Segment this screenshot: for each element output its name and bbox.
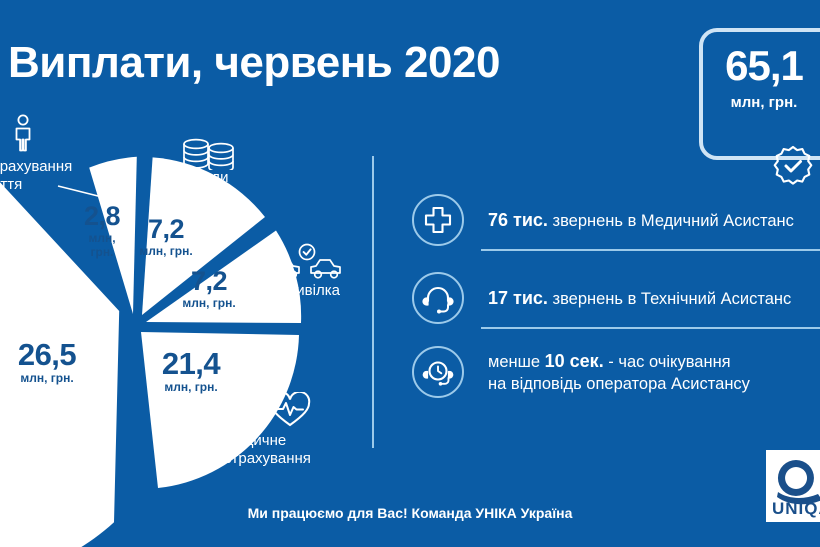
headset-icon: [410, 270, 466, 326]
heart-pulse-icon: [268, 392, 312, 430]
pie-label-life-line2: життя: [0, 176, 72, 194]
stat-value-wait: 10 сек.: [545, 351, 604, 371]
stat-text-wait-time: менше 10 сек. - час очікування на відпов…: [488, 349, 750, 396]
stat-text-medical-assistance: 76 тис. звернень в Медичний Асистанс: [488, 208, 794, 232]
car-icon: [0, 404, 36, 436]
stat-desc-medical: звернень в Медичний Асистанс: [548, 212, 794, 230]
medical-cross-icon: [410, 192, 466, 248]
coins-icon: [182, 138, 236, 170]
headset-clock-icon: [410, 344, 466, 400]
stat-item-medical-assistance: 76 тис. звернень в Медичний Асистанс: [410, 192, 794, 248]
stat-text-technical-assistance: 17 тис. звернень в Технічний Асистанс: [488, 286, 791, 310]
uniqa-wordmark: UNIQA: [772, 499, 820, 518]
pie-label-kasko: КАСКО: [0, 448, 35, 466]
stat-separator-1: [481, 249, 820, 251]
two-cars-check-icon: [268, 243, 346, 283]
stat-item-technical-assistance: 17 тис. звернень в Технічний Асистанс: [410, 270, 791, 326]
stat-wait-prefix: менше: [488, 353, 545, 371]
pie-label-medical-line2: страхування: [224, 450, 311, 468]
pie-label-other: Інші види: [163, 169, 228, 187]
panel-divider: [372, 156, 374, 448]
footer-text: Ми працюємо для Вас! Команда УНІКА Украї…: [0, 505, 820, 521]
stat-wait-suffix: - час очікування: [604, 353, 731, 371]
stat-wait-line2: на відповідь оператора Асистансу: [488, 373, 750, 395]
stat-separator-2: [481, 327, 820, 329]
pie-label-medical: Медичне страхування: [224, 432, 311, 467]
uniqa-logo-mark: UNIQA: [766, 450, 820, 522]
stat-wait-line1: менше 10 сек. - час очікування: [488, 349, 750, 373]
person-icon: [9, 114, 37, 152]
pie-label-life-line1: Страхування: [0, 158, 72, 176]
stat-item-wait-time: менше 10 сек. - час очікування на відпов…: [410, 344, 750, 400]
stat-desc-technical: звернень в Технічний Асистанс: [548, 290, 791, 308]
pie-label-life: Страхування життя: [0, 158, 72, 193]
infographic-canvas: Виплати, червень 2020 65,1 млн, грн. 2,8…: [0, 0, 820, 547]
pie-label-medical-line1: Медичне: [224, 432, 311, 450]
uniqa-logo: UNIQA: [766, 450, 820, 522]
pie-label-auto: Автоцивілка: [255, 282, 340, 300]
stat-value-technical: 17 тис.: [488, 288, 548, 308]
stat-value-medical: 76 тис.: [488, 210, 548, 230]
